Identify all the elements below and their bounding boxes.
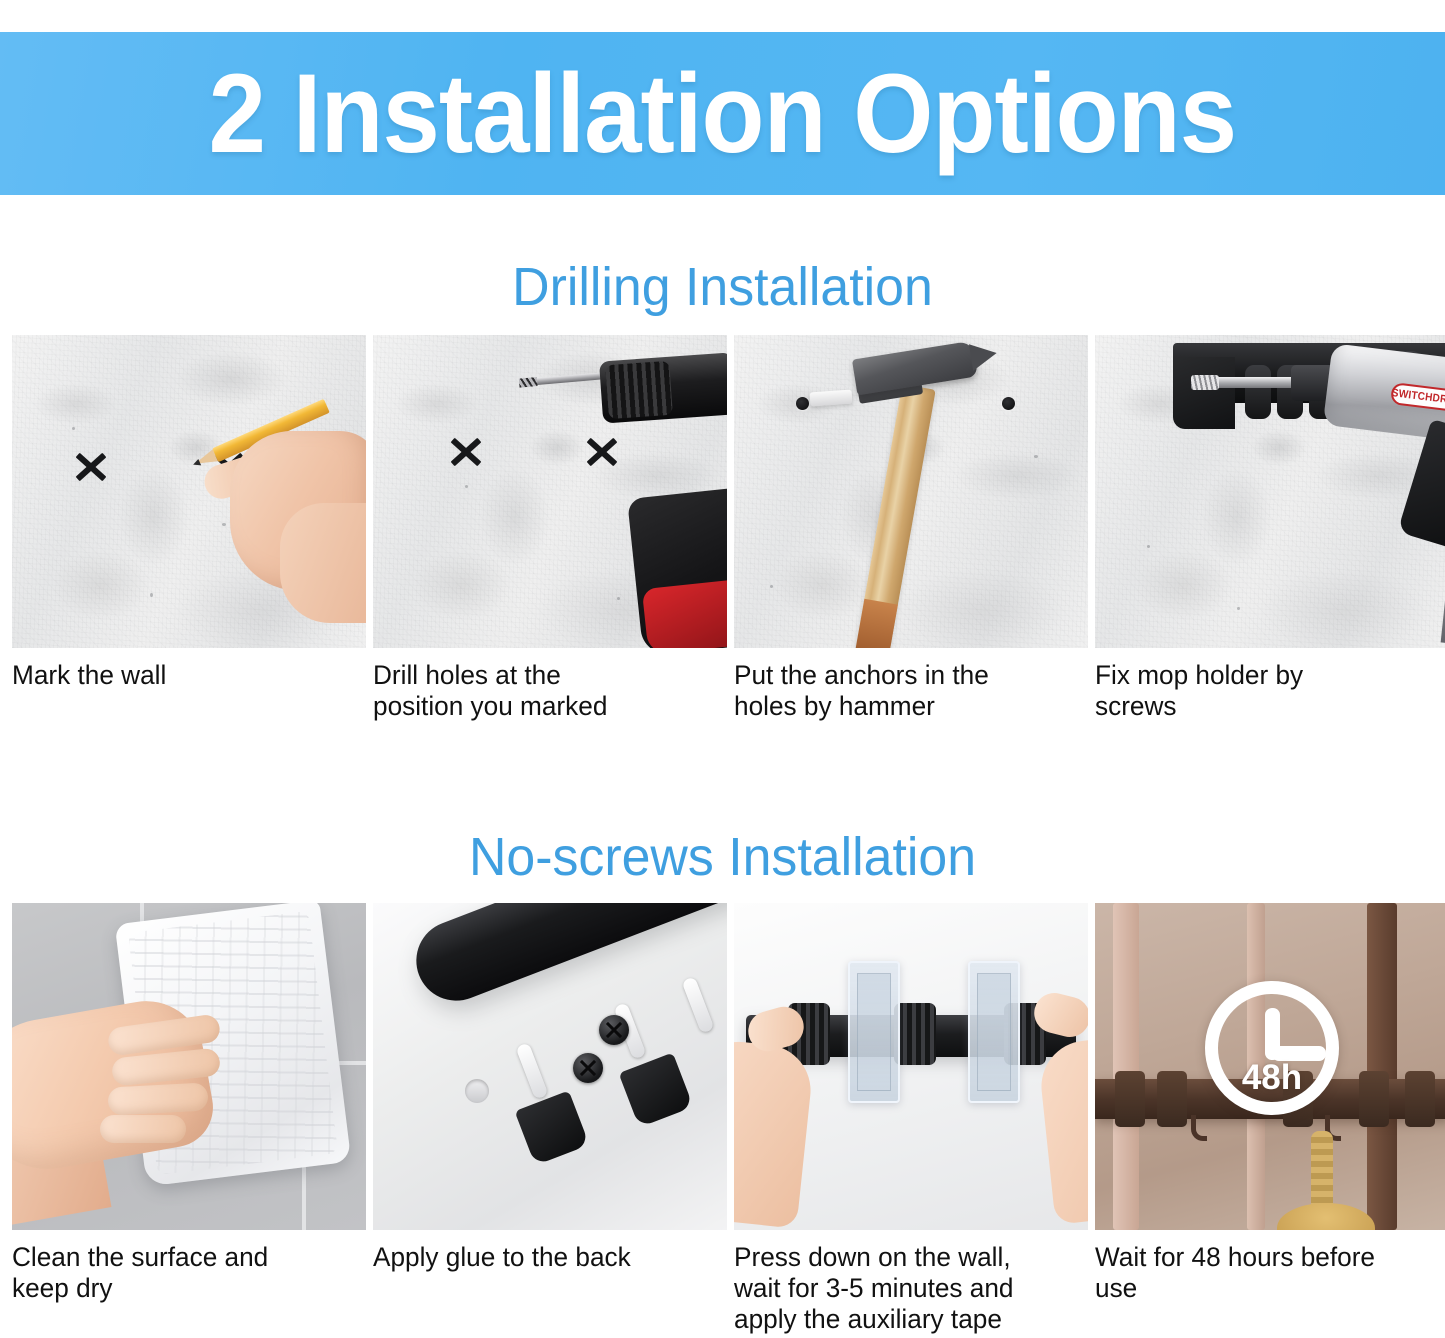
mark-x-left <box>74 450 108 484</box>
auxiliary-tape-strip <box>848 961 900 1103</box>
clock-icon: 48h <box>1205 981 1339 1115</box>
holder-clip <box>1245 365 1271 419</box>
page-title: 2 Installation Options <box>209 58 1236 170</box>
step-caption: Wait for 48 hours before use <box>1095 1230 1438 1304</box>
section-heading-drilling: Drilling Installation <box>29 258 1416 316</box>
auxiliary-tape-strip <box>968 961 1020 1103</box>
wall-speck <box>222 523 226 526</box>
wall-speck <box>150 593 153 597</box>
mounting-hole <box>465 1079 489 1103</box>
step-photo-wait-48h: 48h <box>1095 903 1445 1230</box>
holder-hook <box>1191 1115 1207 1141</box>
mark-x-left <box>449 435 483 469</box>
step-photo-clean-surface <box>12 903 366 1230</box>
step-photo-mark-wall <box>12 335 366 648</box>
broom-handle <box>1113 903 1139 1230</box>
step-card-clean-surface: Clean the surface and keep dry <box>12 903 366 1335</box>
header-banner: 2 Installation Options <box>0 32 1445 195</box>
step-photo-apply-glue <box>373 903 727 1230</box>
step-photo-press-wall <box>734 903 1088 1230</box>
step-card-wait-48h: 48h Wait for 48 hours before use <box>1095 903 1445 1335</box>
finger <box>107 1082 208 1115</box>
drilled-hole-right <box>1002 397 1015 410</box>
holder-clip <box>1405 1071 1435 1127</box>
wall-speck <box>465 485 468 488</box>
step-card-press-wall: Press down on the wall, wait for 3-5 min… <box>734 903 1088 1335</box>
wall-speck <box>1034 455 1038 458</box>
step-card-anchors: Put the anchors in the holes by hammer <box>734 335 1088 722</box>
noscrews-steps-row: Clean the surface and keep dry Apply glu… <box>12 903 1436 1335</box>
holder-end-plate <box>1173 357 1235 429</box>
phillips-screw <box>599 1015 629 1045</box>
wall-speck <box>617 597 620 600</box>
wall-speck <box>1237 607 1240 610</box>
wall-speck <box>72 427 75 430</box>
drilling-steps-row: Mark the wall Drill holes at the positio… <box>12 335 1436 722</box>
holder-clip <box>1115 1071 1145 1127</box>
wall-speck <box>770 585 773 588</box>
step-photo-anchors <box>734 335 1088 648</box>
step-caption: Put the anchors in the holes by hammer <box>734 648 1077 722</box>
drilled-hole-left <box>796 397 809 410</box>
section-heading-noscrews: No-screws Installation <box>29 828 1416 886</box>
drill-battery <box>642 579 727 648</box>
step-caption: Mark the wall <box>12 648 355 691</box>
wall-anchor <box>810 390 853 407</box>
step-photo-fix-screws: SWITCHDRIVER <box>1095 335 1445 648</box>
finger <box>100 1115 186 1143</box>
forearm <box>280 503 366 623</box>
step-caption: Clean the surface and keep dry <box>12 1230 355 1304</box>
holder-clip <box>1157 1071 1187 1127</box>
drill-chuck <box>599 352 727 423</box>
step-caption: Apply glue to the back <box>373 1230 716 1273</box>
step-card-mark-wall: Mark the wall <box>12 335 366 722</box>
step-card-fix-screws: SWITCHDRIVER Fix mop holder by screws <box>1095 335 1445 722</box>
broom-handle <box>1367 903 1397 1230</box>
holder-roller <box>894 1003 936 1065</box>
mark-x-right <box>585 435 619 469</box>
step-caption: Drill holes at the position you marked <box>373 648 716 722</box>
step-photo-drill-holes <box>373 335 727 648</box>
phillips-screw <box>573 1053 603 1083</box>
holder-clip <box>1359 1071 1389 1127</box>
clock-duration-label: 48h <box>1218 1060 1326 1095</box>
wall-speck <box>1147 545 1150 548</box>
step-caption: Press down on the wall, wait for 3-5 min… <box>734 1230 1077 1335</box>
step-card-drill-holes: Drill holes at the position you marked <box>373 335 727 722</box>
step-card-apply-glue: Apply glue to the back <box>373 903 727 1335</box>
step-caption: Fix mop holder by screws <box>1095 648 1438 722</box>
